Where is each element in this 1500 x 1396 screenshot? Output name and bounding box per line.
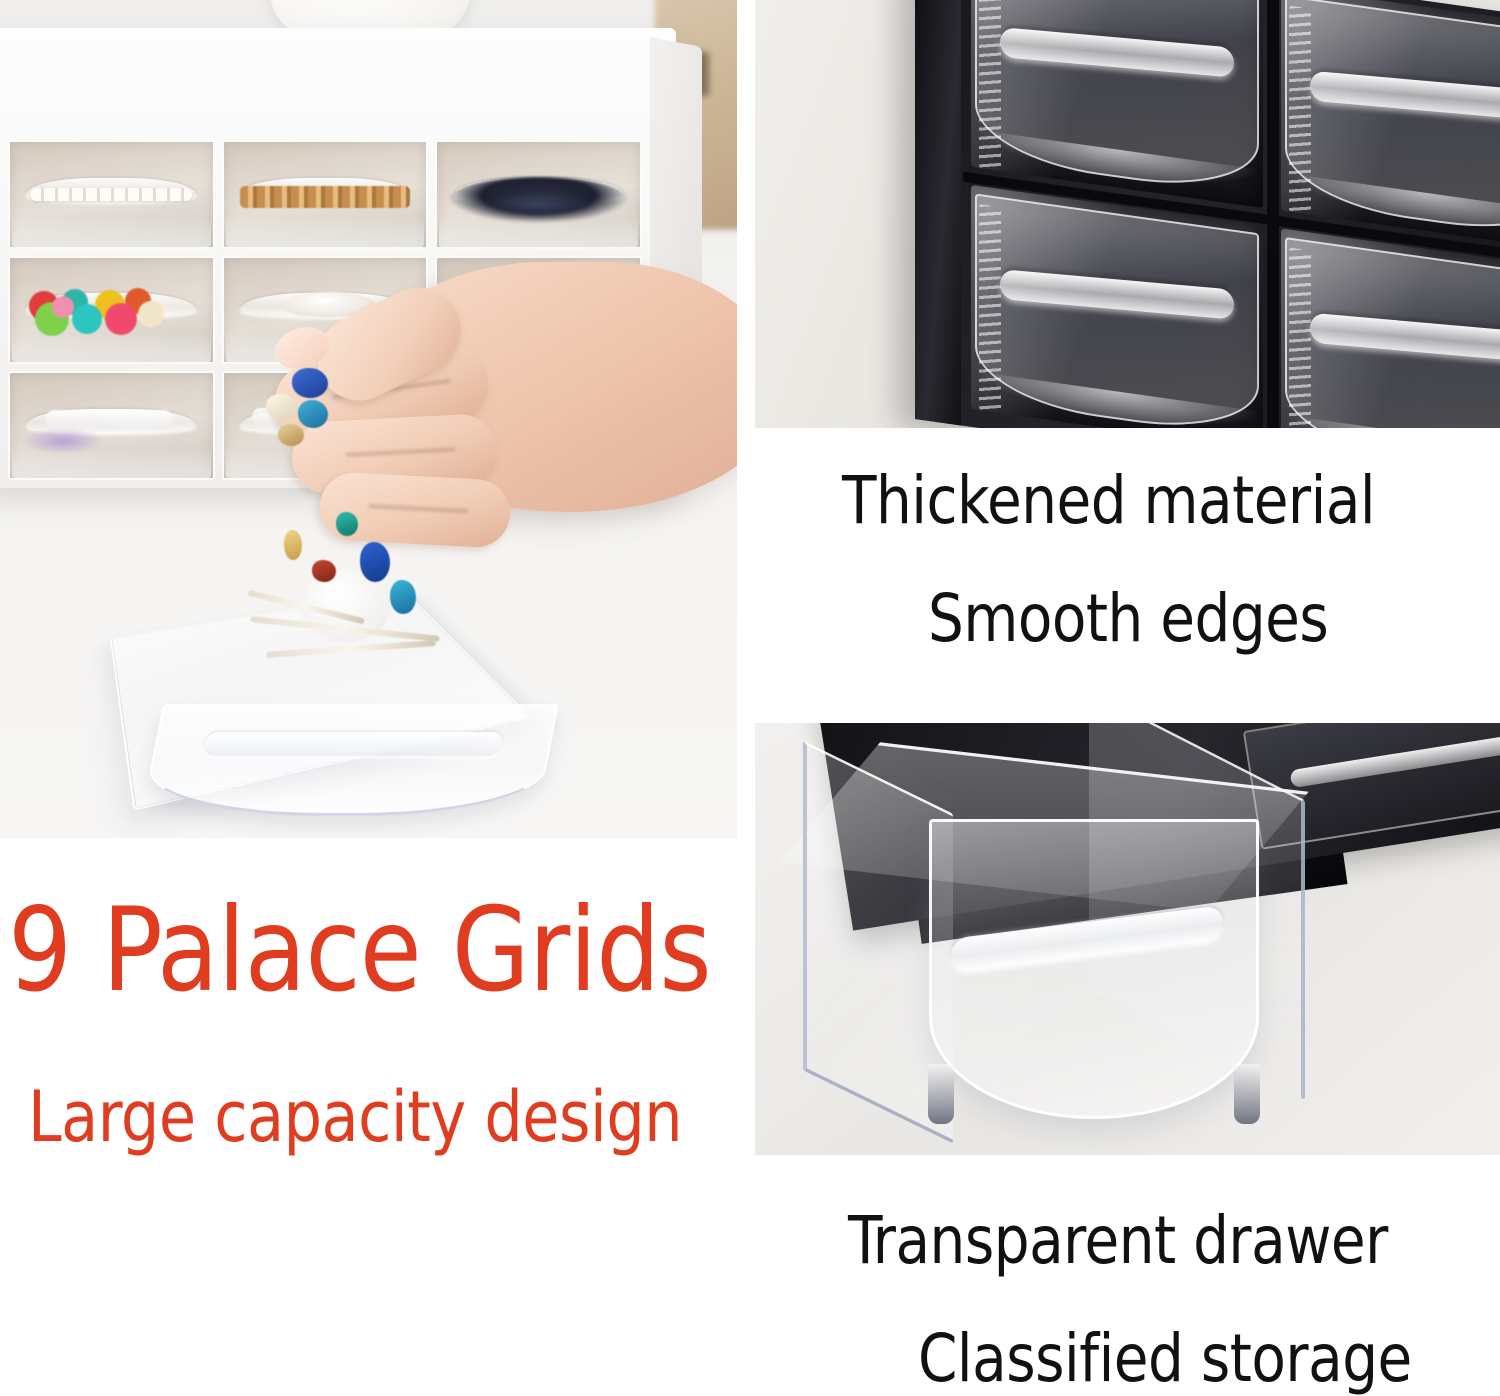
black-drawer — [971, 0, 1263, 208]
caption-smooth: Smooth edges — [928, 580, 1328, 657]
drawer-cell — [8, 256, 215, 365]
black-drawer — [1281, 228, 1500, 428]
drawer-front-panel — [929, 819, 1259, 1119]
caption-thickened: Thickened material — [842, 462, 1375, 539]
drawer-contents — [240, 506, 470, 676]
unit-front-edge — [915, 0, 961, 425]
photo-transparent-drawer — [755, 723, 1500, 1155]
drawer-foot — [928, 1064, 954, 1124]
drawer-cell — [8, 140, 215, 249]
headline-subtitle: Large capacity design — [28, 1082, 682, 1152]
black-drawer — [971, 185, 1263, 428]
black-drawer — [1281, 0, 1500, 252]
headline-title: 9 Palace Grids — [8, 893, 711, 1009]
drawer-handle-rail — [951, 905, 1223, 972]
black-organizer-unit — [915, 0, 1500, 428]
divider — [1267, 0, 1279, 428]
photo-black-organizer-closeup — [755, 0, 1500, 428]
drawer-front — [141, 704, 559, 816]
drawer-foot — [1234, 1064, 1260, 1124]
drawer-column — [1281, 0, 1500, 428]
pulled-out-clear-drawer — [140, 420, 560, 780]
removed-clear-drawer — [803, 751, 1323, 1131]
photo-white-organizer-with-hand — [0, 0, 737, 838]
infographic-page: 9 Palace Grids Large capacity design Thi… — [0, 0, 1500, 1396]
caption-transparent: Transparent drawer — [848, 1202, 1388, 1279]
caption-classified: Classified storage — [918, 1320, 1412, 1396]
drawer-handle-rail — [202, 732, 505, 756]
